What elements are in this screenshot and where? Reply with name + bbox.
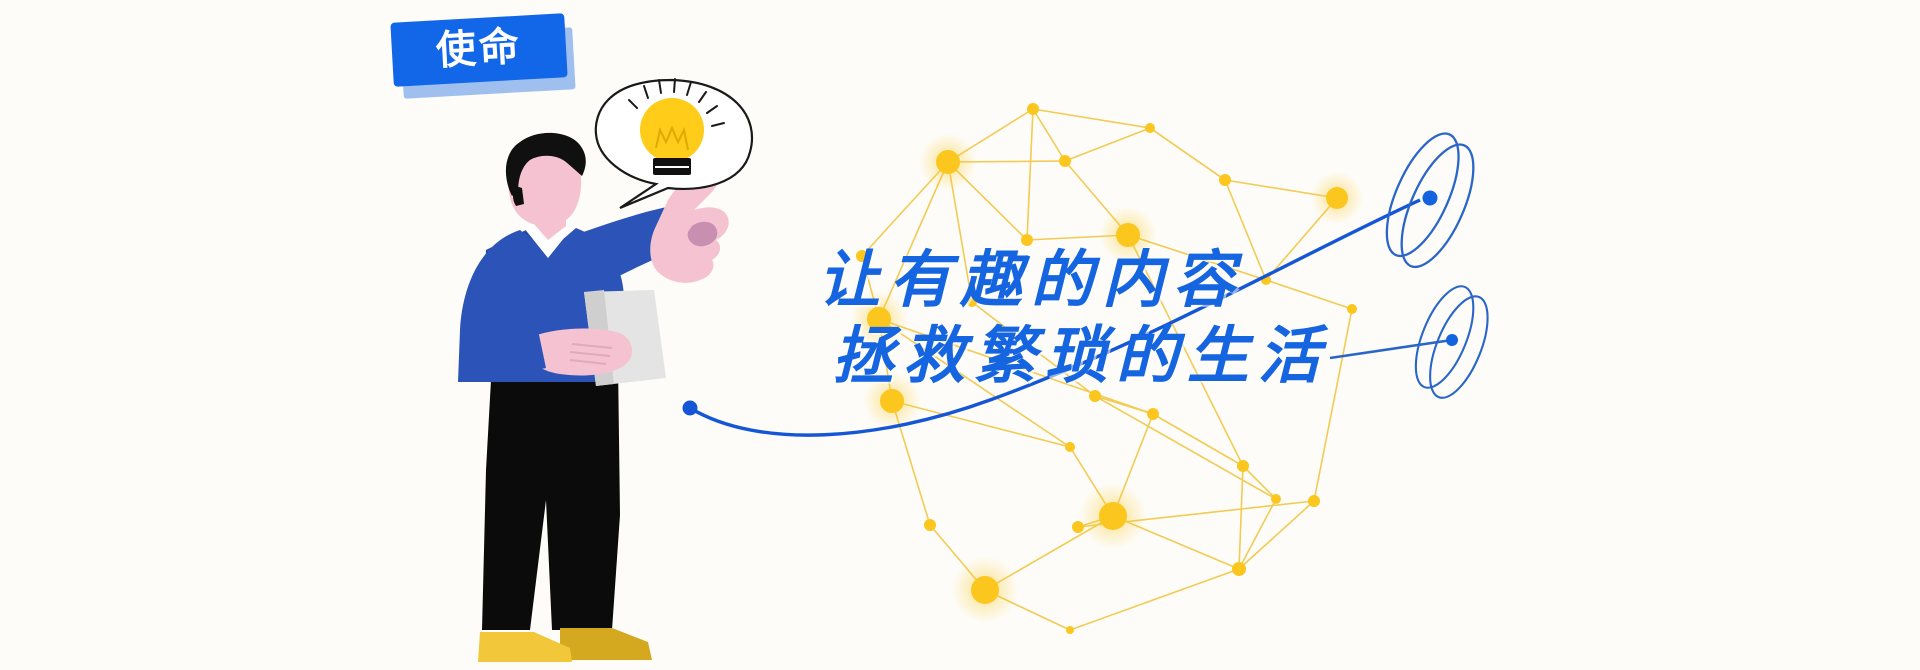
mission-banner: 让有趣的内容 拯救繁琐的生活 使命	[0, 0, 1920, 670]
lightbulb-speech-bubble	[0, 0, 1920, 670]
